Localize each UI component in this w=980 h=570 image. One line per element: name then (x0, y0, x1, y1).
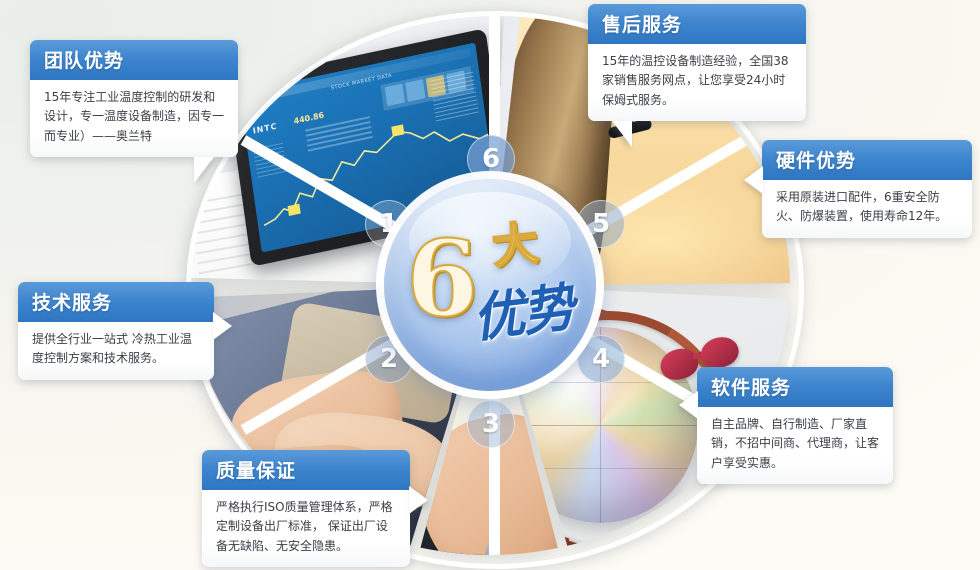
card-title-quality: 质量保证 (202, 450, 410, 490)
card-tail-quality (409, 486, 428, 514)
card-title-software: 软件服务 (697, 367, 893, 407)
card-tail-software (679, 391, 698, 419)
card-title-hardware: 硬件优势 (762, 140, 972, 180)
card-tail-team (194, 157, 214, 183)
sunglasses-bridge (692, 350, 707, 360)
callout-card-quality[interactable]: 质量保证 严格执行ISO质量管理体系，严格定制设备出厂标准， 保证出厂设备无缺陷… (202, 450, 410, 567)
sunglasses-lens-left (657, 344, 702, 383)
card-title-after-sales: 售后服务 (588, 4, 806, 44)
wheel-number-badge-3[interactable]: 3 (467, 400, 515, 448)
card-tail-tech (213, 312, 232, 340)
tablet-data-rows (305, 116, 373, 155)
tablet-screen-title: STOCK MARKET DATA (331, 73, 393, 92)
tablet-value-label: 440.86 (293, 111, 324, 126)
card-body-team: 15年专注工业温度控制的研发和设计，专一温度设备制造，因专一而专业）——奥兰特 (30, 80, 238, 157)
callout-card-software[interactable]: 软件服务 自主品牌、自行制造、厂家直销，不招中间商、代理商，让客户享受实惠。 (697, 367, 893, 484)
tablet-left-ticks (253, 143, 287, 179)
card-tail-after-sales (612, 121, 632, 147)
card-body-software: 自主品牌、自行制造、厂家直销，不招中间商、代理商，让客户享受实惠。 (697, 407, 893, 484)
card-body-quality: 严格执行ISO质量管理体系，严格定制设备出厂标准， 保证出厂设备无缺陷、无安全隐… (202, 490, 410, 567)
tablet-header-bar (246, 48, 471, 105)
card-title-team: 团队优势 (30, 40, 238, 80)
center-hub-inner: 6 大 优势 (384, 179, 596, 391)
card-title-tech: 技术服务 (18, 282, 214, 322)
callout-card-team[interactable]: 团队优势 15年专注工业温度控制的研发和设计，专一温度设备制造，因专一而专业）—… (30, 40, 238, 157)
card-body-after-sales: 15年的温控设备制造经验，全国38家销售服务网点，让您享受24小时保姆式服务。 (588, 44, 806, 121)
card-tail-hardware (744, 166, 763, 194)
callout-card-after-sales[interactable]: 售后服务 15年的温控设备制造经验，全国38家销售服务网点，让您享受24小时保姆… (588, 4, 806, 121)
center-word: 优势 (468, 265, 576, 352)
callout-card-hardware[interactable]: 硬件优势 采用原装进口配件，6重安全防火、防爆装置，使用寿命12年。 (762, 140, 972, 238)
tablet-brand-label: INTC (252, 122, 278, 136)
center-hub: 6 大 优势 (376, 171, 604, 399)
card-body-hardware: 采用原装进口配件，6重安全防火、防爆装置，使用寿命12年。 (762, 180, 972, 238)
tablet-right-ticks (430, 72, 479, 125)
globe-equator-line (502, 425, 698, 426)
center-unit: 大 (489, 207, 542, 277)
pen-tip (478, 532, 501, 555)
card-body-tech: 提供全行业一站式 冷热工业温度控制方案和技术服务。 (18, 322, 214, 380)
callout-card-tech[interactable]: 技术服务 提供全行业一站式 冷热工业温度控制方案和技术服务。 (18, 282, 214, 380)
tablet-thumb-panel (380, 66, 474, 111)
center-hub-text: 6 大 优势 (384, 179, 596, 391)
